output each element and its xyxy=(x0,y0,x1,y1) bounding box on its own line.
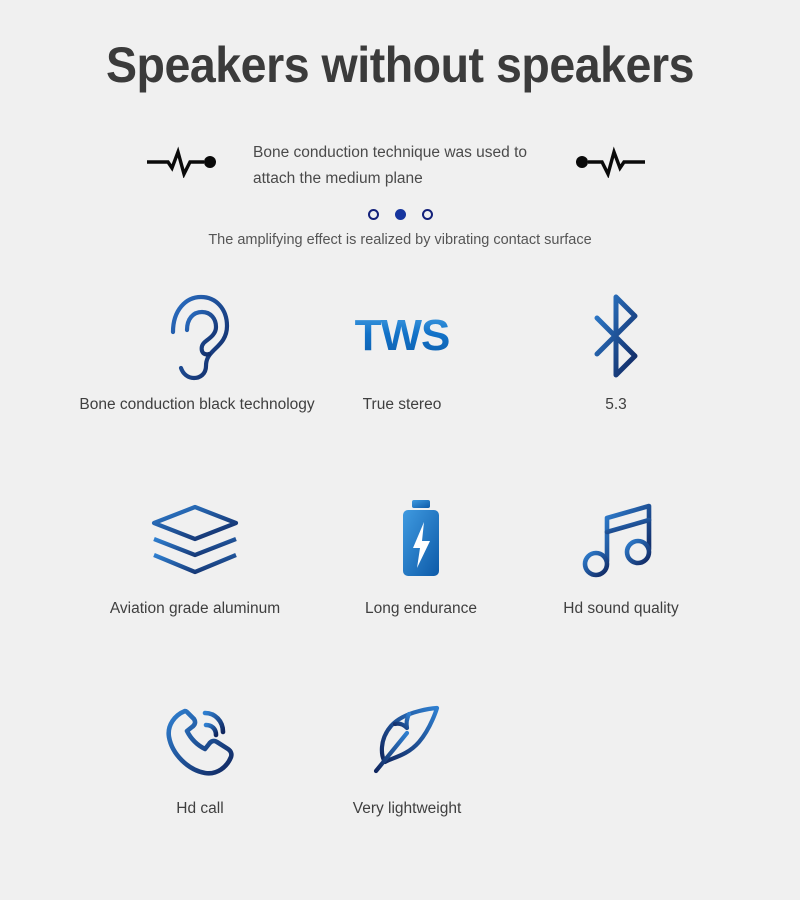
feature-label: 5.3 xyxy=(605,396,627,414)
feature-label: Hd call xyxy=(176,800,223,818)
carousel-dot-2[interactable] xyxy=(395,209,406,220)
page-title: Speakers without speakers xyxy=(28,36,772,94)
feature-hd-sound-quality: Hd sound quality xyxy=(545,492,697,618)
tws-wordmark: TWS xyxy=(355,288,450,384)
bluetooth-icon xyxy=(586,288,646,384)
carousel-dots[interactable] xyxy=(0,209,800,220)
feature-bone-conduction: Bone conduction black technology xyxy=(97,288,297,414)
tws-text: TWS xyxy=(355,314,450,358)
feature-label: Hd sound quality xyxy=(563,600,678,618)
battery-charging-icon xyxy=(397,492,445,588)
carousel-dot-1[interactable] xyxy=(368,209,379,220)
infographic-page: Speakers without speakers Bone conductio… xyxy=(0,0,800,900)
feather-leaf-icon xyxy=(367,692,447,788)
intro-band: Bone conduction technique was used to at… xyxy=(0,140,800,200)
feature-long-endurance: Long endurance xyxy=(340,492,502,618)
phone-call-icon xyxy=(161,692,239,788)
feature-label: Bone conduction black technology xyxy=(79,396,314,414)
feature-label: Very lightweight xyxy=(353,800,462,818)
feature-label: True stereo xyxy=(363,396,442,414)
feature-hd-call: Hd call xyxy=(122,692,278,818)
layers-icon xyxy=(149,492,241,588)
carousel-dot-3[interactable] xyxy=(422,209,433,220)
pulse-waveform-icon xyxy=(146,146,220,178)
pulse-waveform-icon-mirrored xyxy=(572,146,646,178)
feature-label: Aviation grade aluminum xyxy=(110,600,280,618)
ear-icon xyxy=(161,288,233,384)
feature-true-stereo: TWS True stereo xyxy=(327,288,477,414)
feature-bluetooth-version: 5.3 xyxy=(556,288,676,414)
feature-very-lightweight: Very lightweight xyxy=(322,692,492,818)
feature-label: Long endurance xyxy=(365,600,477,618)
music-note-icon xyxy=(581,492,661,588)
sub-caption: The amplifying effect is realized by vib… xyxy=(0,232,800,248)
feature-aviation-aluminum: Aviation grade aluminum xyxy=(95,492,295,618)
intro-text: Bone conduction technique was used to at… xyxy=(253,140,573,192)
